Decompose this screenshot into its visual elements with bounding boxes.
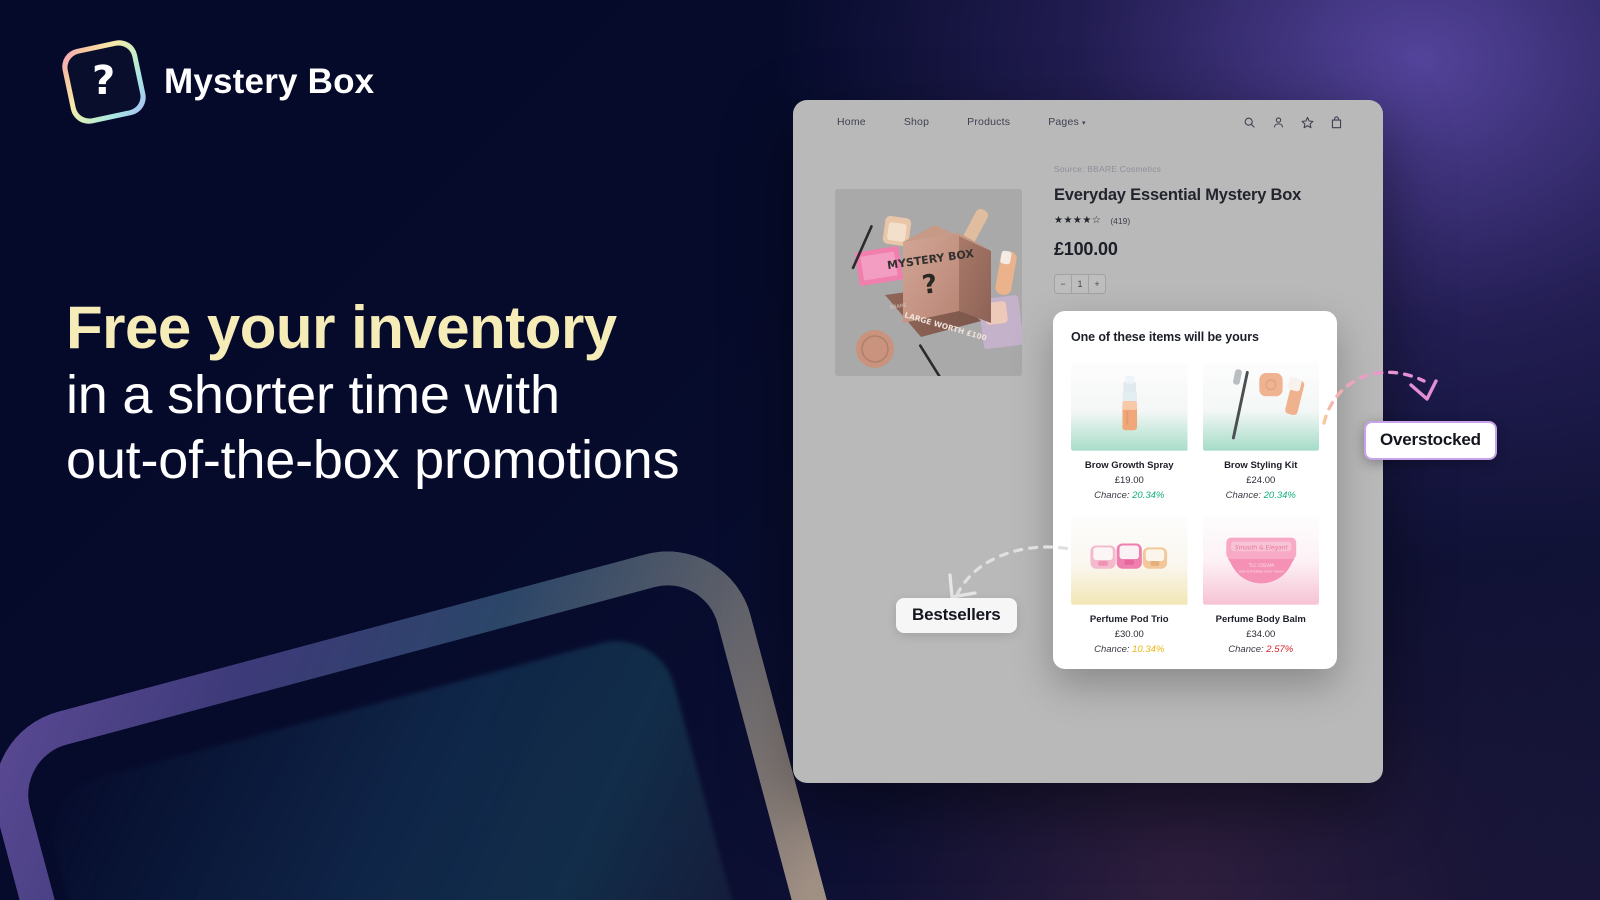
- product-title: Everyday Essential Mystery Box: [1054, 186, 1354, 205]
- popup-item-brow-growth-spray[interactable]: Brow Growth Spray £19.00 Chance: 20.34%: [1071, 361, 1188, 501]
- quantity-stepper[interactable]: − 1 +: [1054, 274, 1106, 294]
- product-chance: Chance: 10.34%: [1071, 644, 1188, 655]
- product-info: Source: BBARE Cosmetics Everyday Essenti…: [1054, 164, 1354, 294]
- chance-value: 20.34%: [1132, 490, 1164, 501]
- brand-logo[interactable]: ? Mystery Box: [66, 44, 374, 120]
- nav-link-products[interactable]: Products: [967, 116, 1010, 128]
- chance-value: 10.34%: [1132, 644, 1164, 655]
- hero-headline: Free your inventory in a shorter time wi…: [66, 292, 846, 492]
- product-name: Perfume Pod Trio: [1071, 614, 1188, 625]
- popup-item-brow-styling-kit[interactable]: Brow Styling Kit £24.00 Chance: 20.34%: [1203, 361, 1320, 501]
- logo-question-glyph: ?: [92, 61, 115, 101]
- product-price: £19.00: [1071, 475, 1188, 486]
- svg-text:TLC CREAM: TLC CREAM: [1247, 563, 1273, 569]
- chevron-down-icon: ▾: [1082, 120, 1086, 127]
- product-name: Brow Styling Kit: [1203, 460, 1320, 471]
- bestsellers-badge: Bestsellers: [896, 598, 1017, 633]
- nav-link-shop[interactable]: Shop: [904, 116, 929, 128]
- headline-line-2: in a shorter time with: [66, 363, 846, 427]
- nav-icon-group: [1243, 116, 1343, 129]
- star-wishlist-icon[interactable]: [1301, 116, 1314, 129]
- product-thumbnail: [1203, 361, 1320, 452]
- product-price: £34.00: [1203, 629, 1320, 640]
- decorative-rotated-square: [0, 532, 925, 900]
- product-chance: Chance: 20.34%: [1071, 490, 1188, 501]
- product-rating: ★★★★☆ (419): [1054, 215, 1354, 226]
- hero-page: ? Mystery Box Free your inventory in a s…: [0, 0, 1600, 900]
- review-count: (419): [1110, 216, 1130, 226]
- mystery-items-popup: One of these items will be yours: [1053, 311, 1337, 669]
- product-name: Perfume Body Balm: [1203, 614, 1320, 625]
- product-chance: Chance: 20.34%: [1203, 490, 1320, 501]
- product-hero-image[interactable]: MYSTERY BOX ? LARGE WORTH £100 BBARE: [835, 189, 1022, 376]
- nav-link-home[interactable]: Home: [837, 116, 866, 128]
- search-icon[interactable]: [1243, 116, 1256, 129]
- headline-line-3: out-of-the-box promotions: [66, 428, 846, 492]
- chance-value: 2.57%: [1266, 644, 1293, 655]
- popup-item-perfume-pod-trio[interactable]: Perfume Pod Trio £30.00 Chance: 10.34%: [1071, 515, 1188, 655]
- quantity-decrement-button[interactable]: −: [1055, 275, 1071, 293]
- quantity-value[interactable]: 1: [1071, 275, 1089, 293]
- product-price: £100.00: [1054, 239, 1354, 260]
- product-chance: Chance: 2.57%: [1203, 644, 1320, 655]
- svg-text:SKIN SOFTENING BODY CREAM: SKIN SOFTENING BODY CREAM: [1238, 570, 1283, 574]
- popup-items-grid: Brow Growth Spray £19.00 Chance: 20.34%: [1071, 361, 1319, 655]
- question-mark-rounded-square-icon: ?: [59, 37, 149, 127]
- product-thumbnail: [1071, 515, 1188, 606]
- nav-link-pages[interactable]: Pages▾: [1048, 116, 1086, 128]
- star-rating-icon: ★★★★☆: [1054, 215, 1101, 226]
- svg-text:Smooth & Elegant: Smooth & Elegant: [1234, 545, 1287, 551]
- product-thumbnail: [1071, 361, 1188, 452]
- product-source: Source: BBARE Cosmetics: [1054, 164, 1354, 174]
- product-price: £30.00: [1071, 629, 1188, 640]
- quantity-increment-button[interactable]: +: [1089, 275, 1105, 293]
- overstocked-badge: Overstocked: [1364, 421, 1497, 460]
- shopping-bag-icon[interactable]: [1330, 116, 1343, 129]
- headline-line-1: Free your inventory: [66, 292, 846, 363]
- storefront-navbar: Home Shop Products Pages▾: [793, 100, 1383, 144]
- product-thumbnail: Smooth & Elegant TLC CREAM SKIN SOFTENIN…: [1203, 515, 1320, 606]
- user-icon[interactable]: [1272, 116, 1285, 129]
- product-name: Brow Growth Spray: [1071, 460, 1188, 471]
- brand-name: Mystery Box: [164, 62, 374, 102]
- decorative-inner-glow: [41, 628, 820, 900]
- nav-links: Home Shop Products Pages▾: [837, 116, 1086, 128]
- product-price: £24.00: [1203, 475, 1320, 486]
- popup-item-perfume-body-balm[interactable]: Smooth & Elegant TLC CREAM SKIN SOFTENIN…: [1203, 515, 1320, 655]
- popup-title: One of these items will be yours: [1071, 330, 1319, 344]
- chance-value: 20.34%: [1264, 490, 1296, 501]
